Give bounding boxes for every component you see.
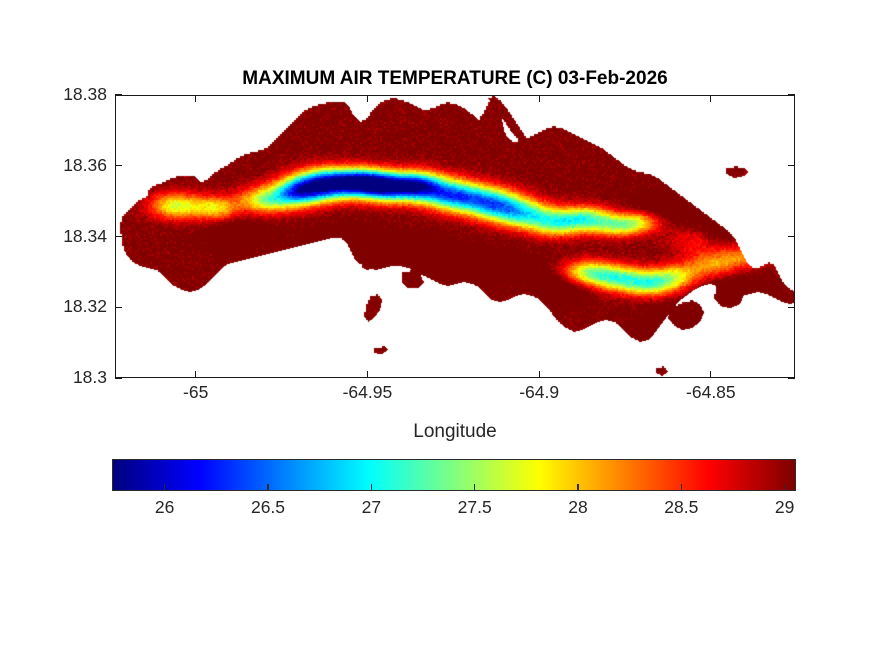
colorbar-tick-label-wrap: 29: [725, 497, 845, 498]
x-tick-mark: [367, 371, 368, 378]
colorbar-tick-label-wrap: 26.5: [208, 497, 328, 498]
x-tick-mark: [539, 371, 540, 378]
colorbar-tick-label: 27.5: [415, 497, 535, 518]
y-tick-label: 18.3: [7, 367, 107, 388]
colorbar-tick-mark: [474, 484, 475, 491]
x-tick-label: -64.85: [641, 382, 781, 403]
x-tick-mark: [710, 371, 711, 378]
x-tick-label: -65: [126, 382, 266, 403]
page-title: MAXIMUM AIR TEMPERATURE (C) 03-Feb-2026: [115, 68, 795, 90]
colorbar-gradient: [113, 460, 795, 490]
colorbar-tick-label-wrap: 26: [105, 497, 225, 498]
y-tick-label-wrap: 18.36: [0, 155, 107, 156]
colorbar-tick-label: 28: [518, 497, 638, 518]
y-tick-mark: [788, 307, 795, 308]
colorbar-tick-label-wrap: 28.5: [621, 497, 741, 498]
temperature-heatmap: [116, 96, 795, 378]
colorbar-tick-mark: [267, 484, 268, 491]
map-axes: [115, 95, 795, 378]
x-tick-label: -64.9: [469, 382, 609, 403]
x-axis-title: Longitude: [115, 421, 795, 443]
y-tick-mark: [115, 377, 122, 378]
x-tick-mark: [195, 371, 196, 378]
y-tick-label: 18.38: [7, 84, 107, 105]
colorbar-tick-label-wrap: 27: [311, 497, 431, 498]
x-tick-mark: [195, 95, 196, 102]
colorbar-tick-label: 27: [311, 497, 431, 518]
y-tick-mark: [115, 307, 122, 308]
y-tick-mark: [115, 94, 122, 95]
y-tick-label: 18.34: [7, 226, 107, 247]
y-tick-label: 18.32: [7, 296, 107, 317]
colorbar-tick-label: 26.5: [208, 497, 328, 518]
colorbar-tick-mark: [784, 484, 785, 491]
colorbar-tick-label: 29: [725, 497, 845, 518]
y-tick-label-wrap: 18.3: [0, 367, 107, 368]
colorbar-tick-mark: [681, 484, 682, 491]
y-tick-mark: [788, 94, 795, 95]
y-tick-mark: [115, 165, 122, 166]
y-tick-label-wrap: 18.32: [0, 296, 107, 297]
x-tick-mark: [539, 95, 540, 102]
x-tick-mark: [367, 95, 368, 102]
colorbar-tick-mark: [371, 484, 372, 491]
colorbar-tick-label: 28.5: [621, 497, 741, 518]
colorbar-tick-label-wrap: 27.5: [415, 497, 535, 498]
colorbar-tick-mark: [164, 484, 165, 491]
x-tick-label-wrap: -65: [126, 382, 266, 383]
figure-canvas: MAXIMUM AIR TEMPERATURE (C) 03-Feb-2026 …: [0, 0, 875, 656]
colorbar-tick-label-wrap: 28: [518, 497, 638, 498]
y-tick-mark: [788, 165, 795, 166]
x-tick-label-wrap: -64.85: [641, 382, 781, 383]
x-tick-mark: [710, 95, 711, 102]
x-tick-label-wrap: -64.9: [469, 382, 609, 383]
colorbar-tick-label: 26: [105, 497, 225, 518]
x-tick-label-wrap: -64.95: [297, 382, 437, 383]
x-tick-label: -64.95: [297, 382, 437, 403]
y-tick-mark: [788, 236, 795, 237]
y-tick-label-wrap: 18.34: [0, 226, 107, 227]
colorbar-tick-mark: [577, 484, 578, 491]
y-tick-mark: [788, 377, 795, 378]
y-tick-label-wrap: 18.38: [0, 84, 107, 85]
y-tick-mark: [115, 236, 122, 237]
y-tick-label: 18.36: [7, 155, 107, 176]
colorbar: [112, 459, 796, 491]
